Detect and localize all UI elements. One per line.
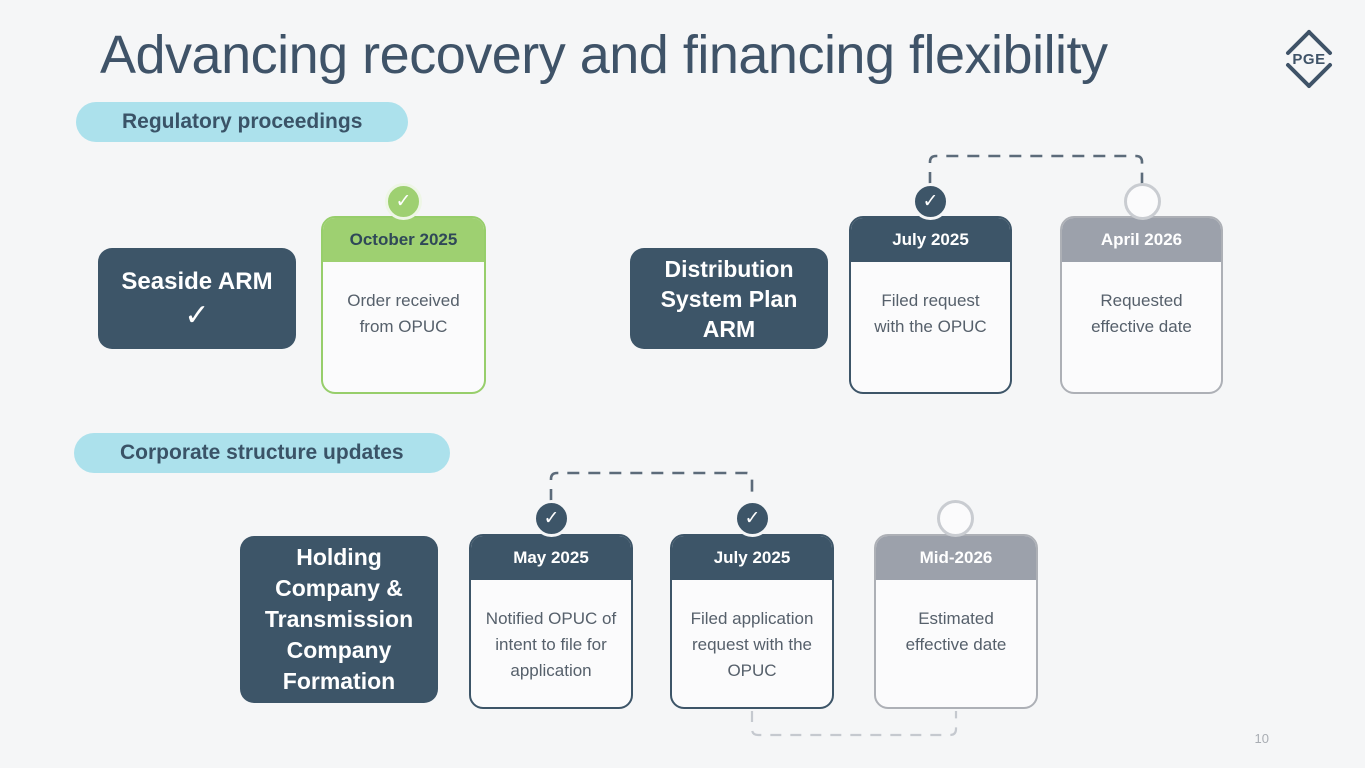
slide-canvas: Advancing recovery and financing flexibi… — [0, 0, 1365, 768]
card-date-label: April 2026 — [1062, 218, 1221, 262]
milestone-card-july-2025-dsp[interactable]: July 2025 Filed request with the OPUC — [849, 216, 1012, 394]
card-date-label: October 2025 — [323, 218, 484, 262]
pge-logo-icon: PGE — [1274, 24, 1344, 94]
anchor-label: Seaside ARM — [121, 267, 272, 297]
status-badge-july-2025-dsp: ✓ — [912, 183, 949, 220]
anchor-box-holding-company-transmission-company-formation: Holding Company & Transmission Company F… — [240, 536, 438, 703]
status-badge-july-2025-holdco: ✓ — [734, 500, 771, 537]
check-icon: ✓ — [745, 509, 761, 528]
status-badge-may-2025: ✓ — [533, 500, 570, 537]
card-date-label: July 2025 — [672, 536, 832, 580]
page-title: Advancing recovery and financing flexibi… — [100, 20, 1230, 90]
pge-logo: PGE — [1274, 24, 1344, 94]
anchor-label: Distribution System Plan ARM — [642, 254, 816, 344]
card-date-label: July 2025 — [851, 218, 1010, 262]
card-body-text: Requested effective date — [1062, 262, 1221, 392]
section-pill-regulatory-proceedings: Regulatory proceedings — [76, 102, 408, 142]
connector-jul2025-apr2026 — [930, 156, 1142, 184]
page-number: 10 — [1255, 731, 1269, 746]
check-icon: ✓ — [923, 192, 939, 211]
status-badge-october-2025: ✓ — [385, 183, 422, 220]
card-body-text: Order received from OPUC — [323, 262, 484, 392]
check-icon: ✓ — [544, 509, 560, 528]
pge-logo-text: PGE — [1292, 51, 1325, 68]
card-body-text: Notified OPUC of intent to file for appl… — [471, 580, 631, 707]
section-pill-corporate-structure-updates: Corporate structure updates — [74, 433, 450, 473]
connector-jul2025-mid2026 — [752, 711, 956, 735]
milestone-card-july-2025-holdco[interactable]: July 2025 Filed application request with… — [670, 534, 834, 709]
anchor-box-seaside-arm: Seaside ARM ✓ — [98, 248, 296, 349]
card-date-label: May 2025 — [471, 536, 631, 580]
card-date-label: Mid-2026 — [876, 536, 1036, 580]
anchor-label: Holding Company & Transmission Company F… — [250, 542, 428, 697]
card-body-text: Filed request with the OPUC — [851, 262, 1010, 392]
milestone-card-mid-2026[interactable]: Mid-2026 Estimated effective date — [874, 534, 1038, 709]
check-icon: ✓ — [396, 192, 412, 211]
card-body-text: Filed application request with the OPUC — [672, 580, 832, 707]
status-badge-mid-2026 — [937, 500, 974, 537]
status-badge-april-2026 — [1124, 183, 1161, 220]
card-body-text: Estimated effective date — [876, 580, 1036, 707]
milestone-card-october-2025[interactable]: October 2025 Order received from OPUC — [321, 216, 486, 394]
check-icon: ✓ — [184, 301, 209, 331]
anchor-box-distribution-system-plan-arm: Distribution System Plan ARM — [630, 248, 828, 349]
connector-may2025-jul2025 — [551, 473, 752, 501]
milestone-card-may-2025[interactable]: May 2025 Notified OPUC of intent to file… — [469, 534, 633, 709]
milestone-card-april-2026[interactable]: April 2026 Requested effective date — [1060, 216, 1223, 394]
